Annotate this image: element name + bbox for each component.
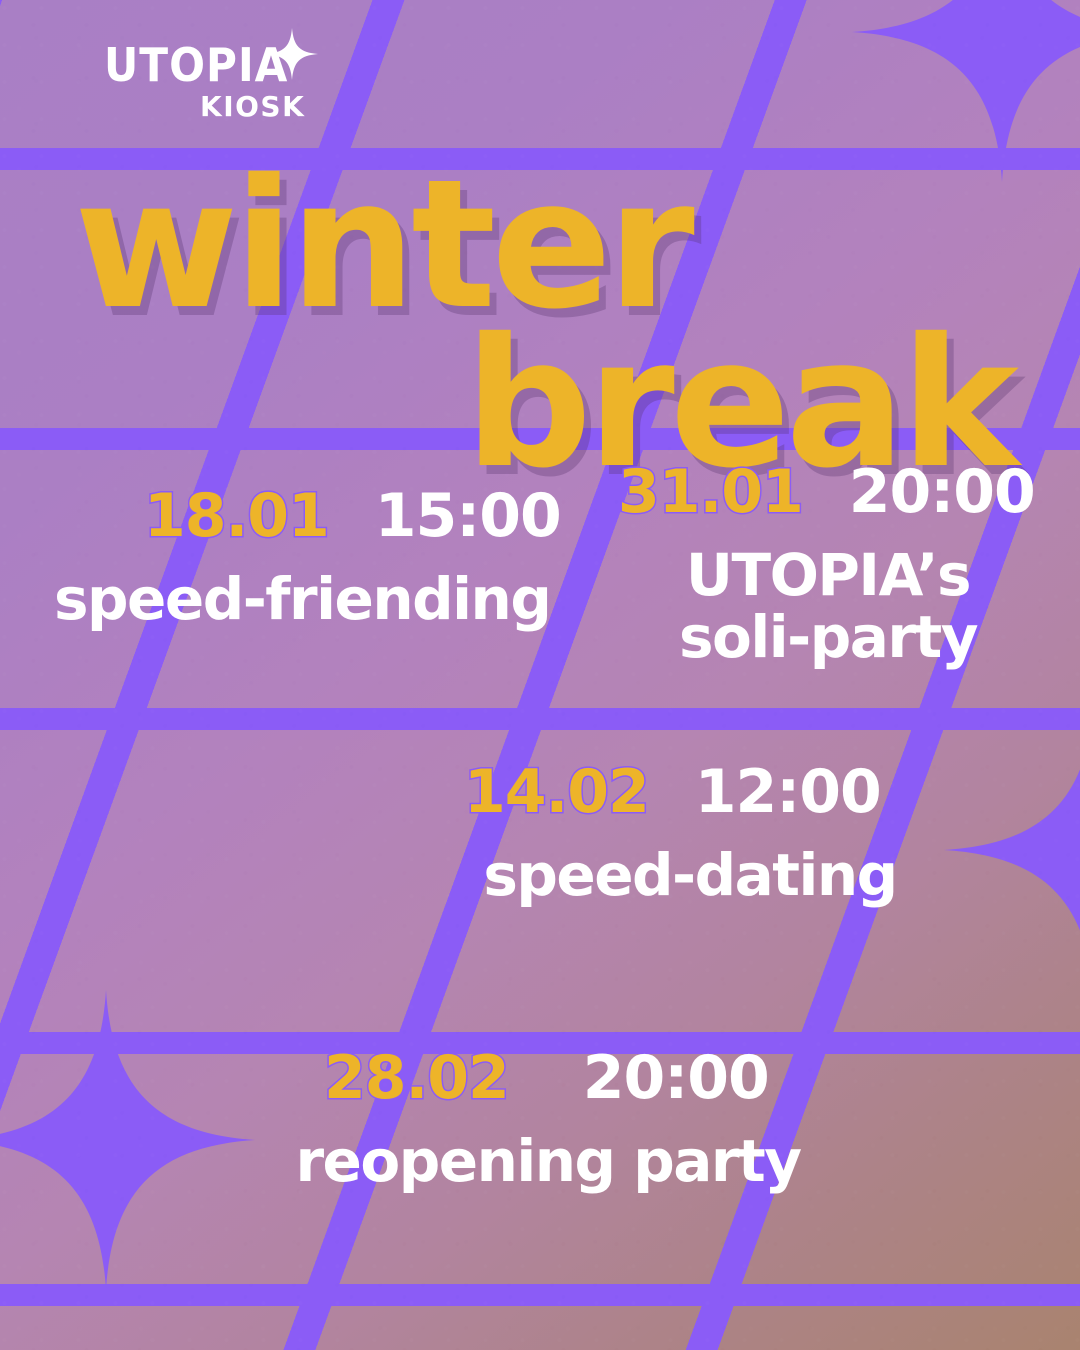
event-item: 28.02 20:00 reopening party bbox=[288, 1048, 808, 1192]
event-date: 31.01 bbox=[618, 462, 803, 522]
event-date: 14.02 bbox=[464, 762, 649, 822]
event-item: 14.02 12:00 speed-dating bbox=[452, 762, 922, 906]
brand-logo: UTOPIA KIOSK bbox=[104, 42, 324, 128]
event-name: speed-dating bbox=[452, 844, 922, 906]
event-item: 18.01 15:00 speed-friending bbox=[54, 486, 561, 630]
sparkle-icon bbox=[266, 28, 318, 80]
event-name: speed-friending bbox=[54, 568, 561, 630]
event-date: 28.02 bbox=[324, 1048, 509, 1108]
event-poster: UTOPIA KIOSK winter break 18.01 15:00 sp… bbox=[0, 0, 1080, 1350]
event-name: UTOPIA’s soli-party bbox=[618, 544, 1038, 668]
page-title: winter break bbox=[0, 168, 1080, 480]
event-time: 20:00 bbox=[583, 1048, 769, 1108]
event-time: 12:00 bbox=[695, 762, 881, 822]
event-date: 18.01 bbox=[144, 486, 329, 546]
event-item: 31.01 20:00 UTOPIA’s soli-party bbox=[618, 462, 1038, 668]
event-name: reopening party bbox=[288, 1130, 808, 1192]
headline-line-1: winter bbox=[0, 168, 1080, 321]
event-time: 15:00 bbox=[375, 486, 561, 546]
event-time: 20:00 bbox=[849, 462, 1035, 522]
brand-subtitle: KIOSK bbox=[200, 93, 324, 121]
